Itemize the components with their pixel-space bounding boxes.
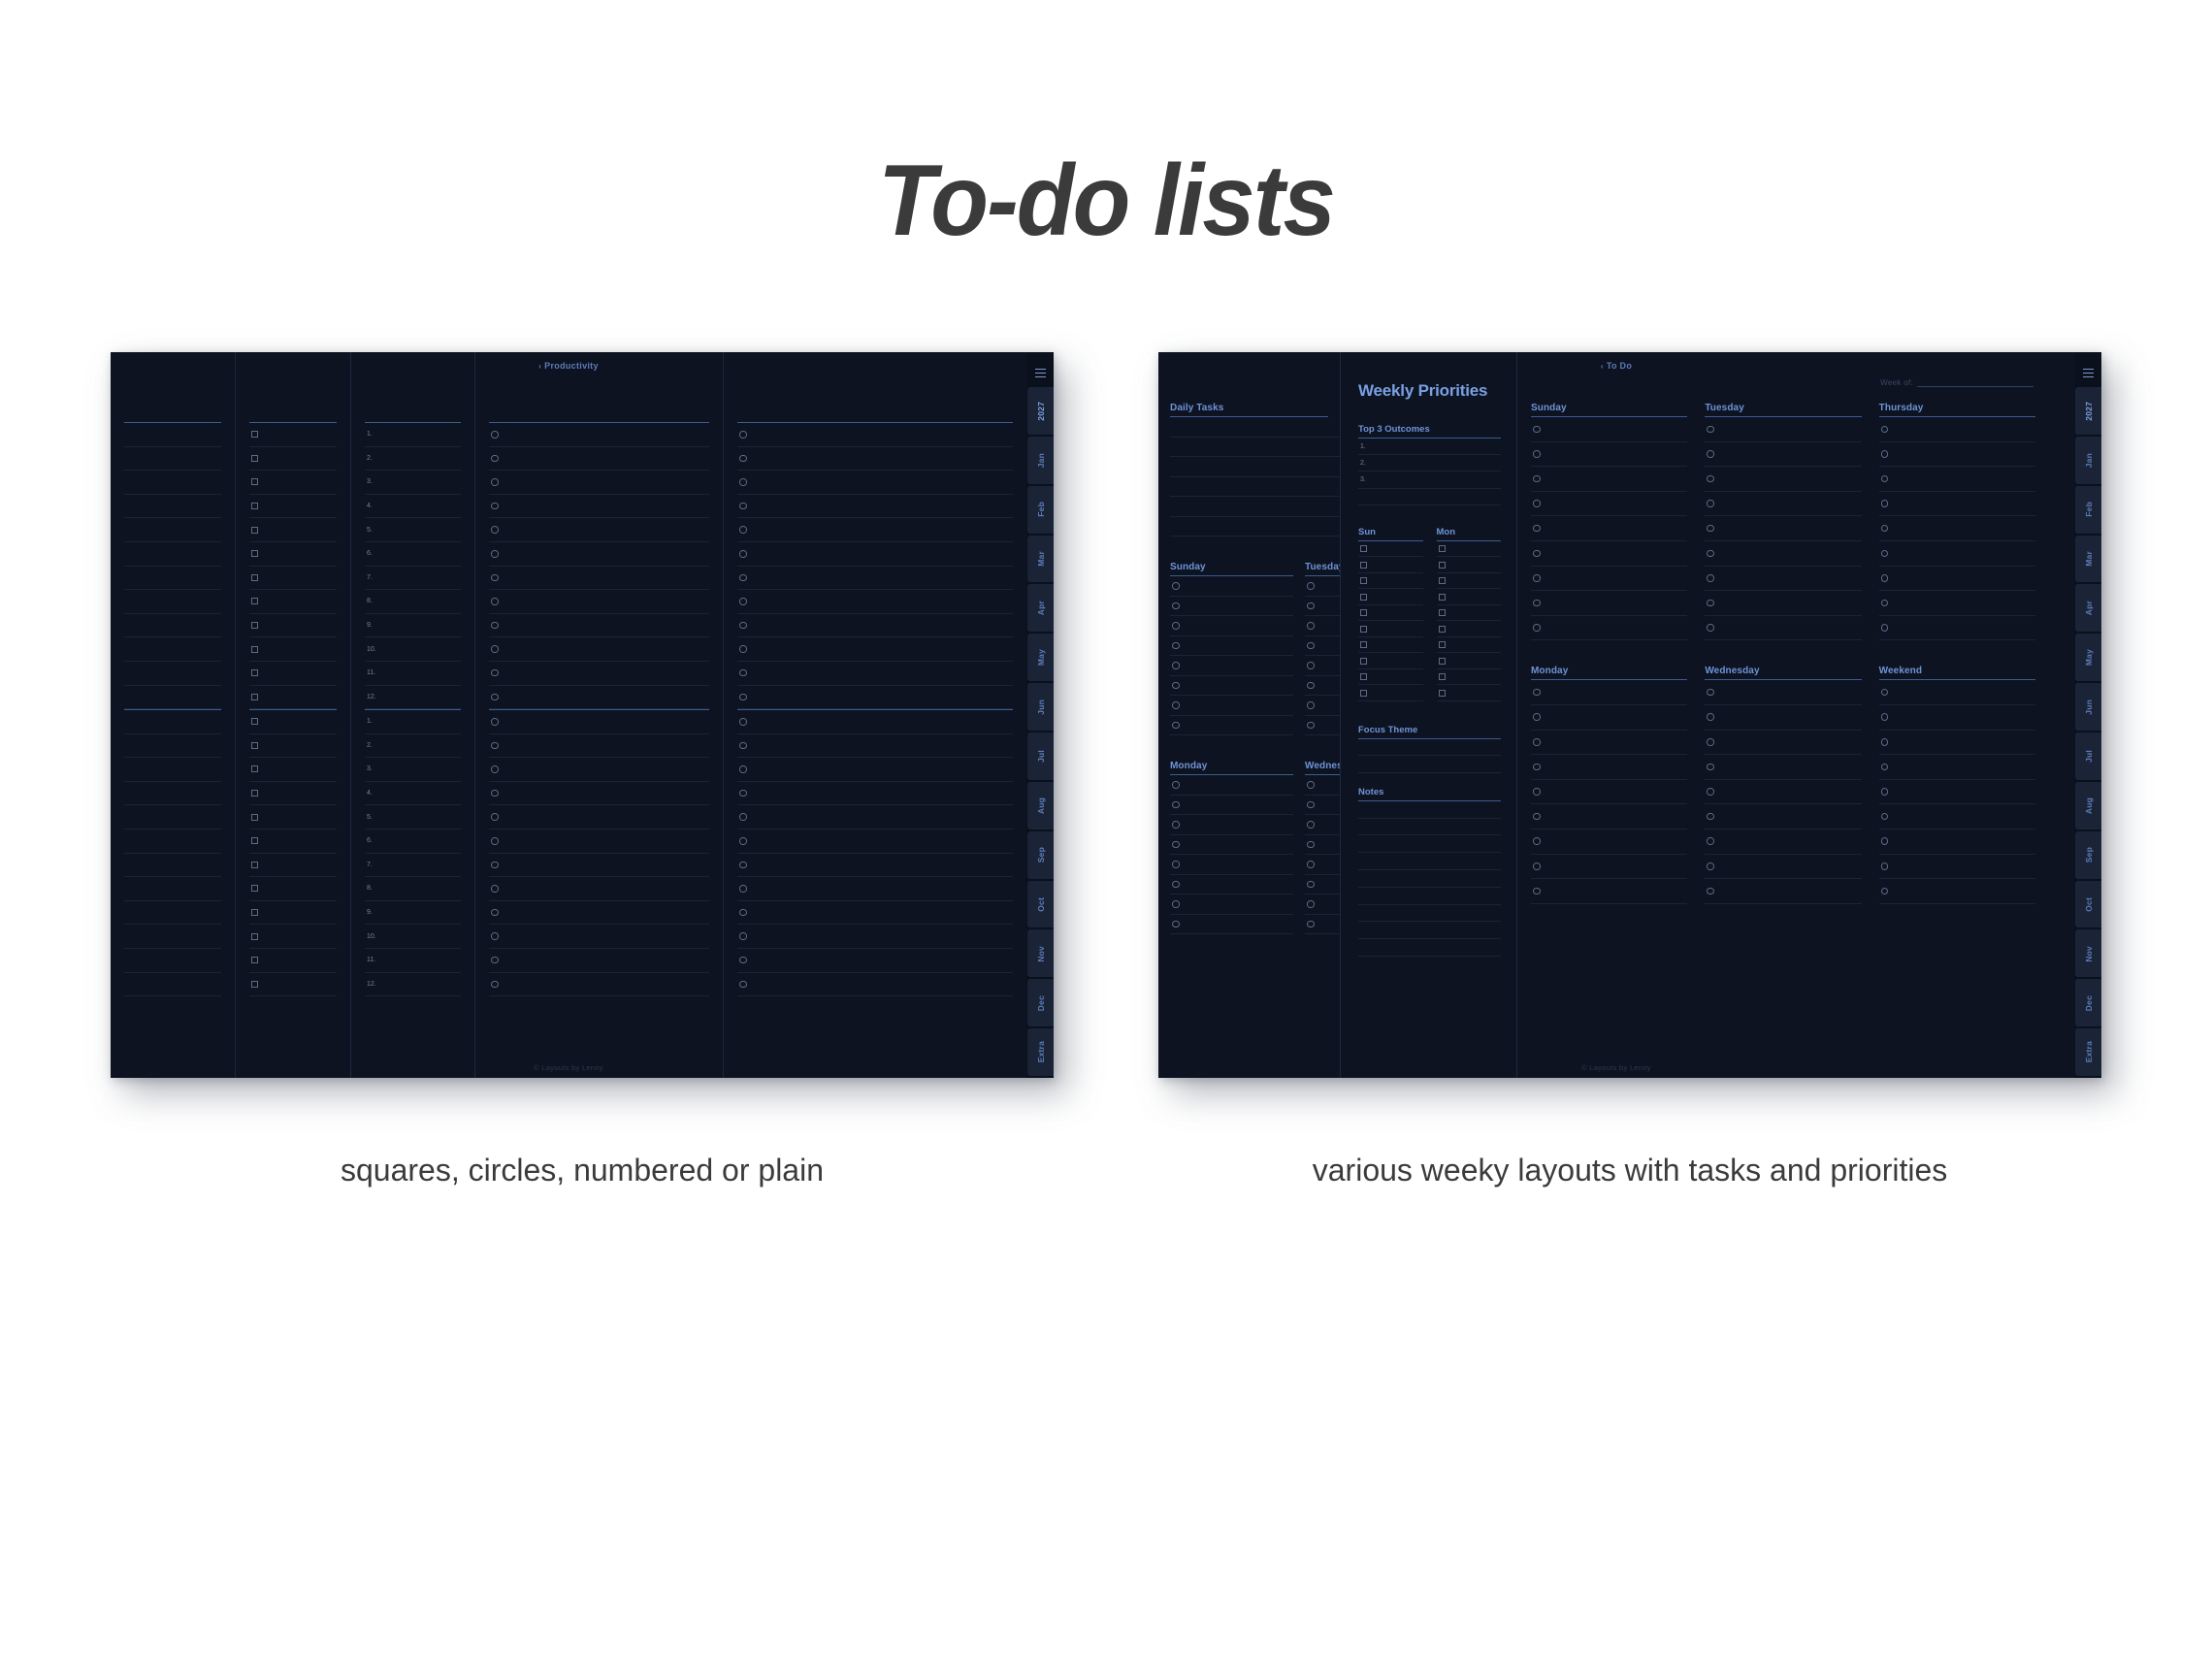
checkbox-circle-icon[interactable]: [1307, 662, 1315, 669]
list-row[interactable]: [1531, 417, 1687, 442]
list-row[interactable]: [124, 567, 221, 591]
checkbox-square-icon[interactable]: [251, 814, 258, 821]
list-row[interactable]: [737, 710, 1013, 734]
list-row[interactable]: [1437, 621, 1502, 637]
list-row[interactable]: [124, 829, 221, 854]
tab-may[interactable]: May: [1027, 634, 1054, 681]
checkbox-circle-icon[interactable]: [1881, 574, 1889, 582]
checkbox-circle-icon[interactable]: [491, 574, 499, 582]
list-row[interactable]: 7.: [365, 854, 461, 878]
list-row[interactable]: [1705, 680, 1861, 705]
list-row[interactable]: [1170, 716, 1293, 736]
list-row[interactable]: [489, 614, 709, 638]
list-row[interactable]: 3.: [365, 758, 461, 782]
list-row[interactable]: [1531, 855, 1687, 880]
tab-sep[interactable]: Sep: [2075, 831, 2101, 879]
checkbox-square-icon[interactable]: [1360, 594, 1367, 601]
list-row[interactable]: [249, 686, 337, 710]
checkbox-circle-icon[interactable]: [1881, 525, 1889, 533]
checkbox-square-icon[interactable]: [1439, 577, 1446, 584]
checkbox-square-icon[interactable]: [1360, 577, 1367, 584]
checkbox-circle-icon[interactable]: [739, 981, 747, 989]
tab-extra[interactable]: Extra: [1027, 1028, 1054, 1076]
list-row[interactable]: [1358, 589, 1423, 605]
list-row[interactable]: [1879, 616, 2035, 641]
checkbox-circle-icon[interactable]: [739, 503, 747, 510]
list-row[interactable]: [1170, 656, 1293, 676]
list-row[interactable]: [489, 542, 709, 567]
tab-apr[interactable]: Apr: [2075, 584, 2101, 632]
checkbox-circle-icon[interactable]: [1707, 738, 1714, 746]
list-row[interactable]: [1305, 636, 1340, 657]
checkbox-square-icon[interactable]: [251, 622, 258, 629]
list-row[interactable]: [1305, 616, 1340, 636]
checkbox-square-icon[interactable]: [251, 933, 258, 940]
checkbox-square-icon[interactable]: [1360, 641, 1367, 648]
checkbox-circle-icon[interactable]: [491, 813, 499, 821]
list-row[interactable]: [124, 758, 221, 782]
checkbox-circle-icon[interactable]: [1707, 500, 1714, 507]
list-row[interactable]: [1437, 637, 1502, 654]
checkbox-square-icon[interactable]: [251, 885, 258, 892]
checkbox-circle-icon[interactable]: [739, 431, 747, 439]
list-row[interactable]: [737, 495, 1013, 519]
checkbox-square-icon[interactable]: [251, 478, 258, 485]
list-row[interactable]: [1879, 879, 2035, 904]
checkbox-circle-icon[interactable]: [739, 622, 747, 630]
list-row[interactable]: [1705, 417, 1861, 442]
checkbox-circle-icon[interactable]: [1881, 862, 1889, 870]
checkbox-circle-icon[interactable]: [1172, 662, 1180, 669]
list-row[interactable]: [1531, 516, 1687, 541]
list-row[interactable]: [489, 949, 709, 973]
list-row[interactable]: [1170, 796, 1293, 816]
list-row[interactable]: [249, 973, 337, 997]
list-row[interactable]: [489, 567, 709, 591]
checkbox-circle-icon[interactable]: [739, 909, 747, 917]
tab-sep[interactable]: Sep: [1027, 831, 1054, 879]
checkbox-circle-icon[interactable]: [1533, 689, 1541, 697]
list-row[interactable]: 8.: [365, 590, 461, 614]
checkbox-circle-icon[interactable]: [739, 694, 747, 701]
checkbox-circle-icon[interactable]: [1533, 713, 1541, 721]
checkbox-circle-icon[interactable]: [739, 932, 747, 940]
list-row[interactable]: [249, 542, 337, 567]
list-row[interactable]: [1170, 576, 1293, 597]
checkbox-circle-icon[interactable]: [1172, 821, 1180, 829]
list-row[interactable]: [124, 637, 221, 662]
list-row[interactable]: [1358, 653, 1423, 669]
list-row[interactable]: 5.: [365, 518, 461, 542]
list-row[interactable]: [737, 542, 1013, 567]
list-row[interactable]: [489, 447, 709, 472]
list-row[interactable]: [249, 829, 337, 854]
checkbox-circle-icon[interactable]: [1533, 788, 1541, 796]
list-row[interactable]: [1170, 815, 1293, 835]
checkbox-circle-icon[interactable]: [739, 718, 747, 726]
list-row[interactable]: [1879, 516, 2035, 541]
tab-aug[interactable]: Aug: [1027, 782, 1054, 829]
list-row[interactable]: 11.: [365, 949, 461, 973]
checkbox-circle-icon[interactable]: [491, 455, 499, 463]
tab-jul[interactable]: Jul: [2075, 732, 2101, 780]
checkbox-square-icon[interactable]: [1360, 690, 1367, 697]
list-row[interactable]: [1437, 573, 1502, 590]
list-row[interactable]: [1879, 680, 2035, 705]
list-row[interactable]: [124, 805, 221, 829]
list-row[interactable]: [1358, 905, 1501, 923]
list-row[interactable]: 3.: [365, 471, 461, 495]
checkbox-circle-icon[interactable]: [1172, 781, 1180, 789]
checkbox-circle-icon[interactable]: [1881, 624, 1889, 632]
list-row[interactable]: [737, 973, 1013, 997]
list-row[interactable]: [249, 447, 337, 472]
hamburger-icon[interactable]: [2074, 358, 2101, 387]
list-row[interactable]: [249, 495, 337, 519]
list-row[interactable]: [249, 567, 337, 591]
checkbox-circle-icon[interactable]: [1533, 525, 1541, 533]
list-row[interactable]: [1170, 915, 1293, 935]
list-row[interactable]: [737, 734, 1013, 759]
list-row[interactable]: [1358, 489, 1501, 505]
checkbox-circle-icon[interactable]: [739, 957, 747, 964]
list-row[interactable]: 10.: [365, 637, 461, 662]
list-row[interactable]: [1305, 835, 1340, 856]
list-row[interactable]: [1305, 895, 1340, 915]
checkbox-square-icon[interactable]: [1360, 545, 1367, 552]
list-row[interactable]: [737, 901, 1013, 926]
list-row[interactable]: [489, 710, 709, 734]
checkbox-circle-icon[interactable]: [491, 718, 499, 726]
list-row[interactable]: [1170, 895, 1293, 915]
list-row[interactable]: [1170, 696, 1293, 716]
list-row[interactable]: [489, 495, 709, 519]
list-row[interactable]: 9.: [365, 614, 461, 638]
checkbox-circle-icon[interactable]: [1533, 500, 1541, 507]
list-row[interactable]: [124, 877, 221, 901]
list-row[interactable]: [1531, 804, 1687, 829]
checkbox-square-icon[interactable]: [251, 694, 258, 700]
checkbox-circle-icon[interactable]: [1707, 837, 1714, 845]
list-row[interactable]: [489, 901, 709, 926]
list-row[interactable]: [249, 854, 337, 878]
list-row[interactable]: [1305, 576, 1340, 597]
list-row[interactable]: [1879, 731, 2035, 756]
checkbox-circle-icon[interactable]: [491, 503, 499, 510]
list-row[interactable]: [489, 877, 709, 901]
list-row[interactable]: [1705, 492, 1861, 517]
tab-apr[interactable]: Apr: [1027, 584, 1054, 632]
checkbox-circle-icon[interactable]: [491, 431, 499, 439]
checkbox-circle-icon[interactable]: [1707, 764, 1714, 771]
checkbox-circle-icon[interactable]: [1881, 738, 1889, 746]
list-row[interactable]: 4.: [365, 495, 461, 519]
checkbox-square-icon[interactable]: [1439, 609, 1446, 616]
list-row[interactable]: [249, 710, 337, 734]
list-row[interactable]: [1879, 705, 2035, 731]
checkbox-circle-icon[interactable]: [491, 981, 499, 989]
list-row[interactable]: [1531, 705, 1687, 731]
checkbox-circle-icon[interactable]: [1881, 837, 1889, 845]
checkbox-circle-icon[interactable]: [1533, 450, 1541, 458]
list-row[interactable]: [124, 949, 221, 973]
checkbox-circle-icon[interactable]: [1881, 500, 1889, 507]
checkbox-circle-icon[interactable]: [1707, 600, 1714, 607]
list-row[interactable]: [1531, 442, 1687, 468]
list-row[interactable]: [1705, 567, 1861, 592]
checkbox-circle-icon[interactable]: [739, 742, 747, 750]
tab-extra[interactable]: Extra: [2075, 1028, 2101, 1076]
checkbox-square-icon[interactable]: [1439, 626, 1446, 633]
list-row[interactable]: [249, 758, 337, 782]
list-row[interactable]: [737, 686, 1013, 710]
list-row[interactable]: [1879, 804, 2035, 829]
list-row[interactable]: [1305, 815, 1340, 835]
list-row[interactable]: [1305, 875, 1340, 895]
list-row[interactable]: [489, 782, 709, 806]
checkbox-square-icon[interactable]: [251, 574, 258, 581]
list-row[interactable]: [737, 518, 1013, 542]
list-row[interactable]: [1358, 819, 1501, 836]
list-row[interactable]: [1879, 567, 2035, 592]
list-row[interactable]: [489, 805, 709, 829]
list-row[interactable]: [1358, 573, 1423, 590]
checkbox-square-icon[interactable]: [251, 718, 258, 725]
checkbox-circle-icon[interactable]: [1881, 550, 1889, 558]
list-row[interactable]: [249, 877, 337, 901]
checkbox-square-icon[interactable]: [251, 527, 258, 534]
checkbox-circle-icon[interactable]: [1707, 450, 1714, 458]
tab-nov[interactable]: Nov: [2075, 929, 2101, 977]
list-row[interactable]: [124, 662, 221, 686]
checkbox-circle-icon[interactable]: [1307, 841, 1315, 849]
list-row[interactable]: [1305, 676, 1340, 697]
checkbox-circle-icon[interactable]: [1307, 821, 1315, 829]
checkbox-square-icon[interactable]: [251, 742, 258, 749]
checkbox-circle-icon[interactable]: [1707, 475, 1714, 483]
list-row[interactable]: [1437, 541, 1502, 558]
checkbox-circle-icon[interactable]: [1881, 813, 1889, 821]
checkbox-circle-icon[interactable]: [1707, 862, 1714, 870]
list-row[interactable]: [1358, 669, 1423, 686]
list-row[interactable]: [737, 590, 1013, 614]
checkbox-circle-icon[interactable]: [491, 550, 499, 558]
list-row[interactable]: 4.: [365, 782, 461, 806]
checkbox-circle-icon[interactable]: [491, 622, 499, 630]
list-row[interactable]: [124, 423, 221, 447]
checkbox-circle-icon[interactable]: [491, 645, 499, 653]
list-row[interactable]: [124, 590, 221, 614]
tab-may[interactable]: May: [2075, 634, 2101, 681]
list-row[interactable]: [1531, 591, 1687, 616]
list-row[interactable]: [1170, 855, 1293, 875]
list-row[interactable]: [249, 590, 337, 614]
checkbox-circle-icon[interactable]: [739, 574, 747, 582]
list-row[interactable]: [1705, 829, 1861, 855]
list-row[interactable]: [1705, 780, 1861, 805]
checkbox-circle-icon[interactable]: [491, 957, 499, 964]
tab-jan[interactable]: Jan: [2075, 437, 2101, 484]
checkbox-square-icon[interactable]: [1360, 673, 1367, 680]
tab-nov[interactable]: Nov: [1027, 929, 1054, 977]
list-row[interactable]: [737, 447, 1013, 472]
list-row[interactable]: 1.: [365, 710, 461, 734]
list-row[interactable]: [1305, 796, 1340, 816]
list-row[interactable]: [1437, 589, 1502, 605]
list-row[interactable]: 8.: [365, 877, 461, 901]
checkbox-circle-icon[interactable]: [1707, 624, 1714, 632]
list-row[interactable]: [489, 734, 709, 759]
list-row[interactable]: [1531, 680, 1687, 705]
list-row[interactable]: [124, 447, 221, 472]
checkbox-circle-icon[interactable]: [1881, 788, 1889, 796]
list-row[interactable]: [1705, 879, 1861, 904]
list-row[interactable]: [1305, 716, 1340, 736]
checkbox-square-icon[interactable]: [251, 790, 258, 797]
list-row[interactable]: [1879, 442, 2035, 468]
list-row[interactable]: [737, 662, 1013, 686]
list-row[interactable]: [124, 925, 221, 949]
list-row[interactable]: [1879, 755, 2035, 780]
list-row[interactable]: [737, 949, 1013, 973]
checkbox-circle-icon[interactable]: [1172, 701, 1180, 709]
list-row[interactable]: [1170, 457, 1340, 477]
list-row[interactable]: [1531, 616, 1687, 641]
list-row[interactable]: 2.: [365, 447, 461, 472]
list-row[interactable]: [1879, 855, 2035, 880]
list-row[interactable]: [737, 614, 1013, 638]
list-row[interactable]: [1531, 492, 1687, 517]
checkbox-circle-icon[interactable]: [1881, 764, 1889, 771]
checkbox-circle-icon[interactable]: [1707, 888, 1714, 895]
list-row[interactable]: [1358, 756, 1501, 773]
list-row[interactable]: [249, 925, 337, 949]
list-row[interactable]: [737, 805, 1013, 829]
list-row[interactable]: [1879, 541, 2035, 567]
checkbox-circle-icon[interactable]: [491, 790, 499, 797]
checkbox-circle-icon[interactable]: [491, 598, 499, 605]
tab-jan[interactable]: Jan: [1027, 437, 1054, 484]
checkbox-circle-icon[interactable]: [1533, 813, 1541, 821]
checkbox-circle-icon[interactable]: [491, 909, 499, 917]
list-row[interactable]: 12.: [365, 973, 461, 997]
list-row[interactable]: [1437, 653, 1502, 669]
list-row[interactable]: [1170, 636, 1293, 657]
list-row[interactable]: [1305, 656, 1340, 676]
checkbox-circle-icon[interactable]: [491, 932, 499, 940]
list-row[interactable]: [249, 805, 337, 829]
list-row[interactable]: [1879, 829, 2035, 855]
tab-oct[interactable]: Oct: [1027, 881, 1054, 928]
list-row[interactable]: [124, 901, 221, 926]
tab-jul[interactable]: Jul: [1027, 732, 1054, 780]
list-row[interactable]: [737, 471, 1013, 495]
checkbox-square-icon[interactable]: [1439, 690, 1446, 697]
list-row[interactable]: [124, 518, 221, 542]
list-row[interactable]: [489, 662, 709, 686]
checkbox-circle-icon[interactable]: [1307, 781, 1315, 789]
list-row[interactable]: [124, 710, 221, 734]
list-row[interactable]: [1879, 492, 2035, 517]
checkbox-square-icon[interactable]: [251, 862, 258, 868]
checkbox-square-icon[interactable]: [251, 550, 258, 557]
checkbox-square-icon[interactable]: [251, 837, 258, 844]
checkbox-circle-icon[interactable]: [1533, 550, 1541, 558]
list-row[interactable]: [1358, 637, 1423, 654]
checkbox-square-icon[interactable]: [1439, 641, 1446, 648]
checkbox-circle-icon[interactable]: [1307, 622, 1315, 630]
list-row[interactable]: [1170, 875, 1293, 895]
checkbox-circle-icon[interactable]: [491, 526, 499, 534]
checkbox-square-icon[interactable]: [251, 431, 258, 438]
list-row[interactable]: [1170, 835, 1293, 856]
checkbox-circle-icon[interactable]: [1172, 602, 1180, 610]
list-row[interactable]: [489, 973, 709, 997]
list-row[interactable]: 3.: [1358, 472, 1501, 488]
list-row[interactable]: [737, 877, 1013, 901]
checkbox-circle-icon[interactable]: [739, 765, 747, 773]
list-row[interactable]: [1358, 685, 1423, 701]
list-row[interactable]: [737, 782, 1013, 806]
checkbox-circle-icon[interactable]: [1881, 475, 1889, 483]
list-row[interactable]: [489, 686, 709, 710]
list-row[interactable]: 2.: [1358, 455, 1501, 472]
list-row[interactable]: [1358, 557, 1423, 573]
checkbox-circle-icon[interactable]: [739, 885, 747, 893]
list-row[interactable]: [249, 518, 337, 542]
list-row[interactable]: [1305, 696, 1340, 716]
checkbox-circle-icon[interactable]: [1307, 801, 1315, 809]
checkbox-square-icon[interactable]: [1360, 609, 1367, 616]
list-row[interactable]: 1.: [365, 423, 461, 447]
checkbox-circle-icon[interactable]: [1533, 426, 1541, 434]
list-row[interactable]: [124, 734, 221, 759]
list-row[interactable]: [1531, 541, 1687, 567]
checkbox-circle-icon[interactable]: [739, 526, 747, 534]
checkbox-circle-icon[interactable]: [739, 645, 747, 653]
checkbox-circle-icon[interactable]: [491, 742, 499, 750]
checkbox-circle-icon[interactable]: [1172, 682, 1180, 690]
list-row[interactable]: 11.: [365, 662, 461, 686]
tab-aug[interactable]: Aug: [2075, 782, 2101, 829]
list-row[interactable]: [1170, 775, 1293, 796]
list-row[interactable]: [1305, 915, 1340, 935]
list-row[interactable]: [1170, 438, 1340, 458]
checkbox-square-icon[interactable]: [251, 909, 258, 916]
checkbox-circle-icon[interactable]: [1172, 722, 1180, 730]
list-row[interactable]: [1358, 621, 1423, 637]
checkbox-circle-icon[interactable]: [1533, 738, 1541, 746]
checkbox-circle-icon[interactable]: [1307, 642, 1315, 650]
checkbox-circle-icon[interactable]: [1307, 900, 1315, 908]
checkbox-square-icon[interactable]: [1360, 626, 1367, 633]
checkbox-circle-icon[interactable]: [1707, 426, 1714, 434]
checkbox-circle-icon[interactable]: [1307, 861, 1315, 868]
checkbox-circle-icon[interactable]: [1307, 582, 1315, 590]
list-row[interactable]: [1358, 870, 1501, 888]
list-row[interactable]: [1879, 417, 2035, 442]
checkbox-circle-icon[interactable]: [1707, 689, 1714, 697]
list-row[interactable]: [1358, 835, 1501, 853]
checkbox-circle-icon[interactable]: [739, 550, 747, 558]
checkbox-circle-icon[interactable]: [1172, 801, 1180, 809]
list-row[interactable]: [489, 829, 709, 854]
list-row[interactable]: 6.: [365, 829, 461, 854]
list-row[interactable]: 12.: [365, 686, 461, 710]
list-row[interactable]: [1531, 780, 1687, 805]
checkbox-circle-icon[interactable]: [1707, 574, 1714, 582]
tab-2027[interactable]: 2027: [1027, 387, 1054, 435]
